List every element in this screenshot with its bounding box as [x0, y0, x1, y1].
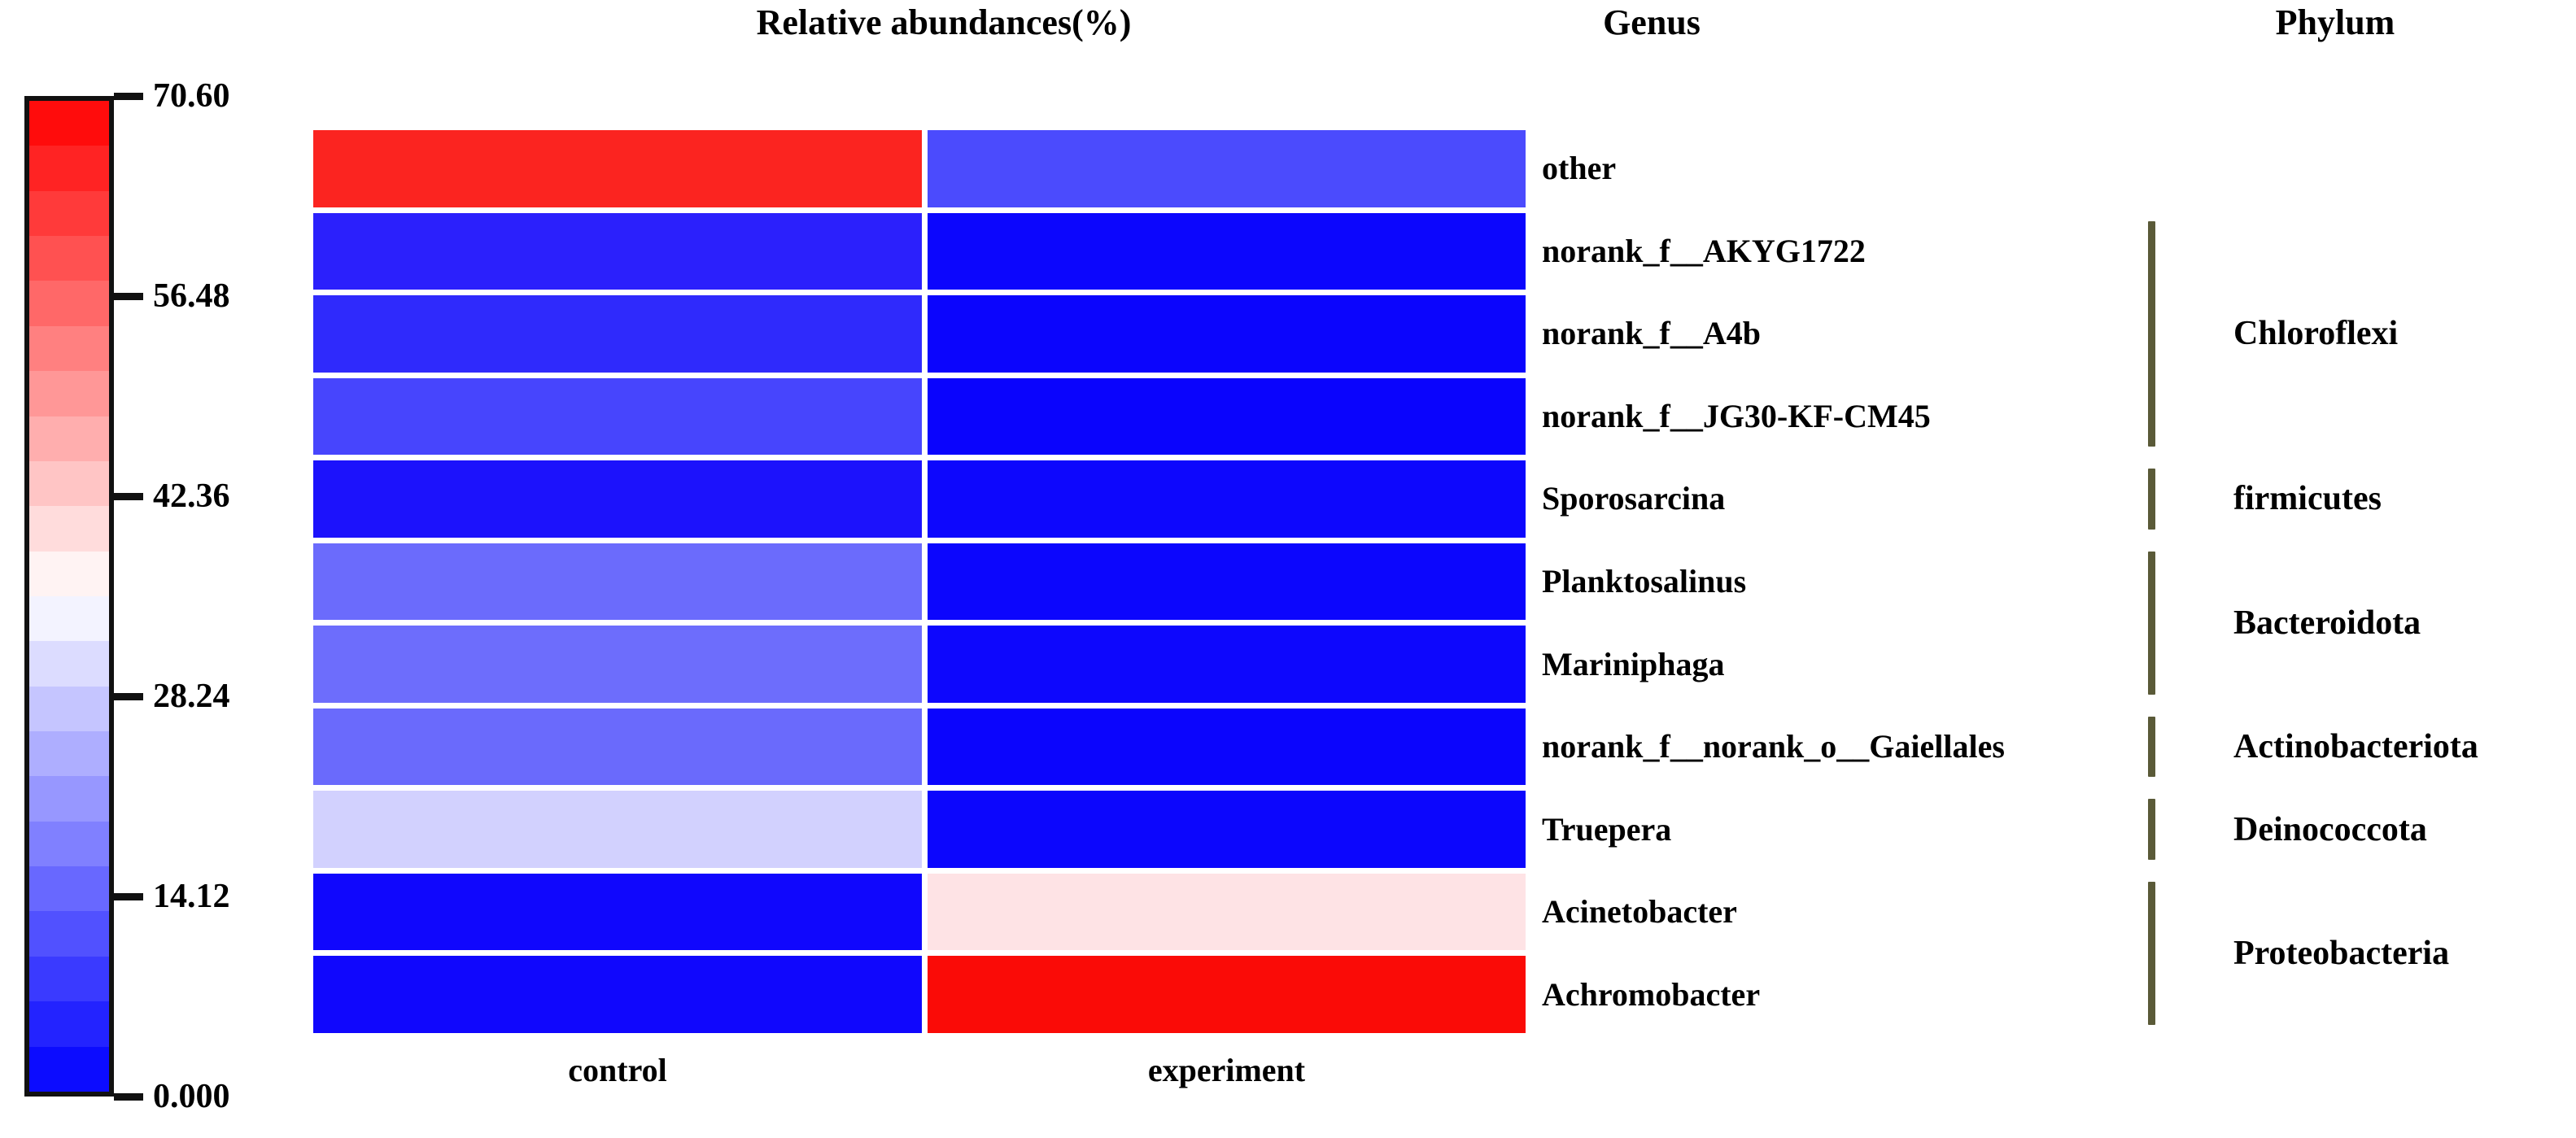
- heatmap-cell[interactable]: [928, 626, 1526, 703]
- colorbar-band: [29, 776, 109, 821]
- colorbar-tick-label: 14.12: [153, 872, 230, 921]
- genus-label: other: [1542, 152, 1616, 185]
- heatmap-row: [313, 626, 1526, 703]
- phylum-bracket-bar: [2148, 552, 2155, 695]
- colorbar-band: [29, 596, 109, 641]
- phylum-label: Chloroflexi: [2233, 316, 2398, 351]
- colorbar-band: [29, 552, 109, 596]
- heatmap-row: [313, 130, 1526, 207]
- colorbar-band: [29, 281, 109, 325]
- colorbar-band: [29, 101, 109, 146]
- x-axis-label-control: control: [313, 1051, 922, 1089]
- colorbar-tick-dash: [114, 1093, 143, 1101]
- heatmap-cell[interactable]: [313, 626, 922, 703]
- heatmap-cell[interactable]: [313, 460, 922, 538]
- phylum-bracket-bar: [2148, 882, 2155, 1025]
- column-title-phylum: Phylum: [2124, 2, 2547, 43]
- heatmap-cell[interactable]: [313, 956, 922, 1033]
- colorbar-band: [29, 731, 109, 776]
- colorbar-band: [29, 146, 109, 190]
- phylum-label: Bacteroidota: [2233, 606, 2421, 640]
- heatmap-cell[interactable]: [928, 709, 1526, 786]
- colorbar-tick-dash: [114, 93, 143, 100]
- colorbar-tick-label: 70.60: [153, 72, 230, 120]
- phylum-label: Actinobacteriota: [2233, 730, 2478, 764]
- heatmap-row: [313, 295, 1526, 373]
- genus-label: Acinetobacter: [1542, 896, 1737, 928]
- colorbar-band: [29, 326, 109, 371]
- colorbar-band: [29, 1047, 109, 1092]
- genus-label-column: othernorank_f__AKYG1722norank_f__A4bnora…: [1542, 130, 2128, 1033]
- heatmap-row: [313, 791, 1526, 868]
- colorbar-band: [29, 957, 109, 1001]
- phylum-label: Proteobacteria: [2233, 936, 2449, 970]
- colorbar-band: [29, 191, 109, 236]
- genus-label: norank_f__A4b: [1542, 317, 1761, 350]
- heatmap-cell[interactable]: [313, 130, 922, 207]
- heatmap-cell[interactable]: [928, 543, 1526, 621]
- heatmap-cell[interactable]: [928, 956, 1526, 1033]
- colorbar-band: [29, 236, 109, 281]
- heatmap-cell[interactable]: [313, 378, 922, 456]
- heatmap-cell[interactable]: [928, 295, 1526, 373]
- heatmap-cell[interactable]: [928, 213, 1526, 290]
- heatmap-row: [313, 709, 1526, 786]
- heatmap-row: [313, 213, 1526, 290]
- heatmap-row: [313, 460, 1526, 538]
- colorbar-band: [29, 461, 109, 506]
- genus-label: Mariniphaga: [1542, 648, 1724, 681]
- phylum-bracket-bar: [2148, 799, 2155, 860]
- column-title-genus: Genus: [1440, 2, 1863, 43]
- genus-label: norank_f__JG30-KF-CM45: [1542, 400, 1931, 433]
- colorbar-band: [29, 371, 109, 416]
- colorbar-band: [29, 911, 109, 956]
- heatmap-cell[interactable]: [313, 709, 922, 786]
- heatmap-row: [313, 956, 1526, 1033]
- colorbar-tick-label: 28.24: [153, 672, 230, 721]
- phylum-bracket-bar: [2148, 717, 2155, 778]
- colorbar-band: [29, 506, 109, 551]
- phylum-bracket-bar: [2148, 221, 2155, 447]
- colorbar-band: [29, 641, 109, 686]
- phylum-label: Deinococcota: [2233, 813, 2427, 847]
- heatmap-cell[interactable]: [313, 791, 922, 868]
- column-title-abundance: Relative abundances(%): [700, 2, 1188, 43]
- heatmap-cell[interactable]: [928, 378, 1526, 456]
- colorbar-tick-dash: [114, 893, 143, 900]
- genus-label: Achromobacter: [1542, 979, 1760, 1011]
- heatmap-row: [313, 378, 1526, 456]
- genus-label: Truepera: [1542, 813, 1671, 846]
- x-axis-label-experiment: experiment: [928, 1051, 1526, 1089]
- colorbar-band: [29, 866, 109, 911]
- colorbar-gradient: [24, 96, 114, 1097]
- colorbar-tick-dash: [114, 493, 143, 500]
- colorbar-tick-dash: [114, 693, 143, 700]
- phylum-bracket-bar: [2148, 469, 2155, 530]
- heatmap-cell[interactable]: [928, 874, 1526, 951]
- heatmap-cell[interactable]: [313, 874, 922, 951]
- colorbar-tick-label: 56.48: [153, 272, 230, 320]
- phylum-label: firmicutes: [2233, 482, 2382, 516]
- genus-label: norank_f__norank_o__Gaiellales: [1542, 730, 2005, 763]
- heatmap-cell[interactable]: [928, 130, 1526, 207]
- genus-label: Sporosarcina: [1542, 482, 1725, 515]
- colorbar-tick-dash: [114, 293, 143, 300]
- colorbar-band: [29, 822, 109, 866]
- heatmap-grid: [313, 130, 1526, 1033]
- colorbar-band: [29, 416, 109, 461]
- colorbar-tick-label: 42.36: [153, 472, 230, 521]
- heatmap-cell[interactable]: [313, 213, 922, 290]
- heatmap-cell[interactable]: [313, 295, 922, 373]
- genus-label: Planktosalinus: [1542, 565, 1746, 598]
- heatmap-cell[interactable]: [928, 460, 1526, 538]
- colorbar-band: [29, 687, 109, 731]
- heatmap-row: [313, 874, 1526, 951]
- colorbar-tick-labels: 70.6056.4842.3628.2414.120.000: [114, 96, 309, 1097]
- heatmap-cell[interactable]: [928, 791, 1526, 868]
- colorbar-band: [29, 1001, 109, 1046]
- heatmap-cell[interactable]: [313, 543, 922, 621]
- phylum-label-column: ChloroflexifirmicutesBacteroidotaActinob…: [2148, 130, 2571, 1033]
- colorbar: [24, 96, 114, 1097]
- heatmap-row: [313, 543, 1526, 621]
- colorbar-tick-label: 0.000: [153, 1072, 230, 1121]
- genus-label: norank_f__AKYG1722: [1542, 235, 1866, 268]
